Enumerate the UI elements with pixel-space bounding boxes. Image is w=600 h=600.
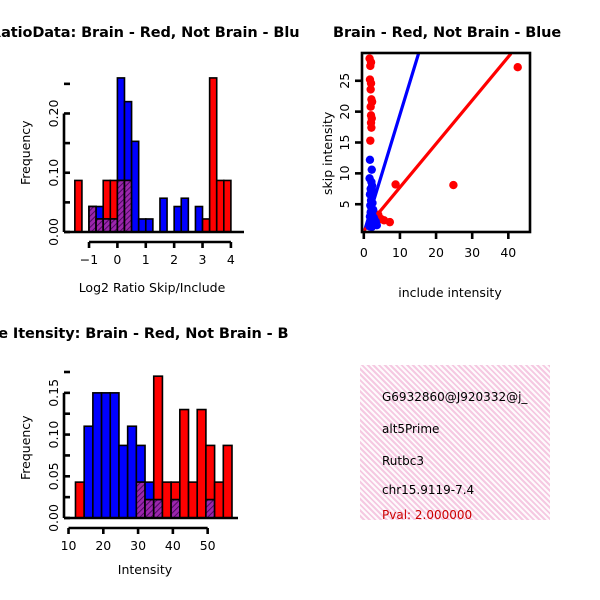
intensity-histogram-panel: ne Itensity: Brain - Red, Not Brain - B … bbox=[0, 300, 300, 600]
scatter-plot: 510152025010203040 bbox=[300, 0, 600, 300]
info-line-locus: chr15.9119-7.4 bbox=[382, 483, 474, 497]
gene-info-box: G6932860@J920332@j_ alt5Prime Rutbc3 chr… bbox=[360, 365, 550, 520]
svg-text:0.00: 0.00 bbox=[46, 218, 61, 246]
svg-text:0.15: 0.15 bbox=[46, 379, 61, 407]
info-panel: G6932860@J920332@j_ alt5Prime Rutbc3 chr… bbox=[300, 300, 600, 600]
svg-text:0.20: 0.20 bbox=[46, 100, 61, 128]
svg-text:40: 40 bbox=[165, 538, 181, 553]
scatter-panel: Brain - Red, Not Brain - Blue 5101520250… bbox=[300, 0, 600, 300]
svg-text:30: 30 bbox=[130, 538, 146, 553]
svg-text:25: 25 bbox=[337, 73, 352, 89]
svg-text:0.10: 0.10 bbox=[46, 421, 61, 449]
svg-text:4: 4 bbox=[227, 252, 235, 267]
svg-text:20: 20 bbox=[337, 104, 352, 120]
info-line-id: G6932860@J920332@j_ bbox=[382, 390, 527, 404]
svg-text:40: 40 bbox=[500, 245, 516, 260]
svg-text:3: 3 bbox=[199, 252, 207, 267]
svg-text:−1: −1 bbox=[80, 252, 98, 267]
scatter-xlabel: include intensity bbox=[360, 285, 540, 300]
svg-text:30: 30 bbox=[464, 245, 480, 260]
svg-text:10: 10 bbox=[337, 165, 352, 181]
svg-text:0.10: 0.10 bbox=[46, 159, 61, 187]
svg-text:0: 0 bbox=[113, 252, 121, 267]
intensity-histogram-plot: 0.000.050.100.151020304050 bbox=[0, 300, 300, 600]
svg-text:10: 10 bbox=[392, 245, 408, 260]
svg-text:10: 10 bbox=[61, 538, 77, 553]
intensity-histogram-xlabel: Intensity bbox=[70, 562, 220, 577]
ratio-histogram-plot: 0.000.100.20−101234 bbox=[0, 0, 300, 300]
svg-text:0: 0 bbox=[360, 245, 368, 260]
svg-text:20: 20 bbox=[428, 245, 444, 260]
scatter-ylabel: skip intensity bbox=[320, 112, 335, 195]
svg-text:5: 5 bbox=[337, 200, 352, 208]
svg-text:0.05: 0.05 bbox=[46, 462, 61, 490]
svg-text:2: 2 bbox=[170, 252, 178, 267]
info-line-event: alt5Prime bbox=[382, 422, 439, 436]
svg-text:50: 50 bbox=[200, 538, 216, 553]
info-line-pval: Pval: 2.000000 bbox=[382, 508, 472, 522]
ratio-histogram-ylabel: Frequency bbox=[18, 120, 33, 185]
intensity-histogram-ylabel: Frequency bbox=[18, 415, 33, 480]
ratio-histogram-panel: RatioData: Brain - Red, Not Brain - Blu … bbox=[0, 0, 300, 300]
svg-text:15: 15 bbox=[337, 135, 352, 151]
svg-text:1: 1 bbox=[142, 252, 150, 267]
ratio-histogram-xlabel: Log2 Ratio Skip/Include bbox=[62, 280, 242, 295]
svg-text:20: 20 bbox=[95, 538, 111, 553]
info-line-gene: Rutbc3 bbox=[382, 454, 424, 468]
svg-text:0.00: 0.00 bbox=[46, 504, 61, 532]
